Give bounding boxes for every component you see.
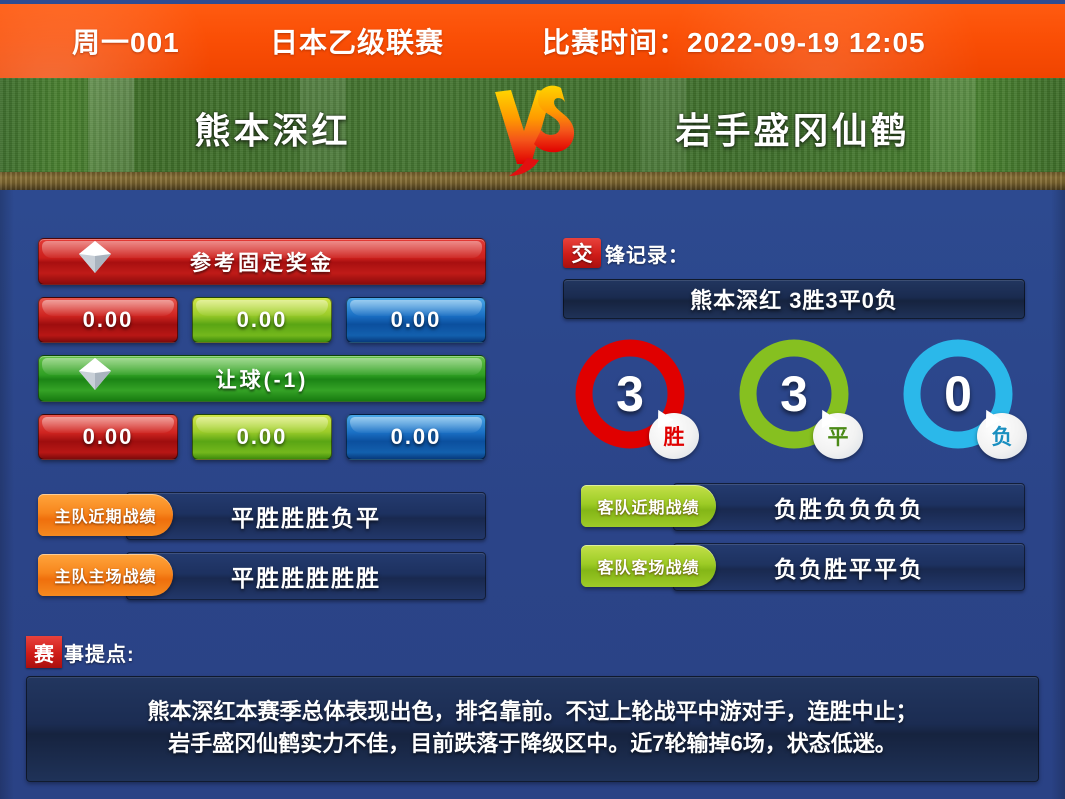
fixed-prize-banner: 参考固定奖金 xyxy=(38,238,486,285)
tips-header: 赛 事提点: xyxy=(26,636,1039,668)
fixed-odd-lose[interactable]: 0.00 xyxy=(346,297,486,343)
match-round: 周一001 xyxy=(72,21,222,61)
fixed-odd-win[interactable]: 0.00 xyxy=(38,297,178,343)
odds-panel: 参考固定奖金 0.00 0.00 0.00 xyxy=(38,238,486,612)
handicap-label: 让球(-1) xyxy=(216,364,309,394)
h2h-draw-badge: 平 xyxy=(813,413,863,459)
away-away-form-value: 负负胜平平负 xyxy=(774,550,924,584)
diamond-icon xyxy=(73,235,117,279)
handicap-odds-row: 0.00 0.00 0.00 xyxy=(38,414,486,460)
h2h-ring-win: 3 胜 xyxy=(571,335,689,453)
league-name: 日本乙级联赛 xyxy=(222,21,500,61)
fixed-prize-odds-row: 0.00 0.00 0.00 xyxy=(38,297,486,343)
tips-title: 事提点: xyxy=(64,638,135,667)
away-away-form-row: 负负胜平平负 客队客场战绩 xyxy=(563,543,1025,589)
home-recent-form-bar: 平胜胜胜负平 xyxy=(126,492,486,540)
home-home-form-value: 平胜胜胜胜胜 xyxy=(231,559,381,593)
match-tips-section: 赛 事提点: 熊本深红本赛季总体表现出色，排名靠前。不过上轮战平中游对手，连胜中… xyxy=(26,636,1039,782)
h2h-ring-draw: 3 平 xyxy=(735,335,853,453)
home-home-form-row: 平胜胜胜胜胜 主队主场战绩 xyxy=(38,552,486,598)
home-recent-form-row: 平胜胜胜负平 主队近期战绩 xyxy=(38,492,486,538)
fixed-odd-draw[interactable]: 0.00 xyxy=(192,297,332,343)
fixed-prize-label: 参考固定奖金 xyxy=(190,247,334,277)
home-home-form-label: 主队主场战绩 xyxy=(54,563,156,587)
home-home-form-tag: 主队主场战绩 xyxy=(38,554,173,596)
away-away-form-bar: 负负胜平平负 xyxy=(673,543,1025,591)
odd-value: 0.00 xyxy=(391,307,442,333)
match-time: 比赛时间：2022-09-19 12:05 xyxy=(500,21,926,61)
header-bar: 周一001 日本乙级联赛 比赛时间：2022-09-19 12:05 xyxy=(0,4,1065,78)
tips-line: 岩手盛冈仙鹤实力不佳，目前跌落于降级区中。近7轮输掉6场，状态低迷。 xyxy=(168,728,896,760)
away-recent-form-bar: 负胜负负负负 xyxy=(673,483,1025,531)
h2h-rings: 3 胜 3 平 0 xyxy=(563,335,1025,453)
away-recent-form-value: 负胜负负负负 xyxy=(774,490,924,524)
home-recent-form-tag: 主队近期战绩 xyxy=(38,494,173,536)
h2h-title: 锋记录： xyxy=(605,239,689,268)
h2h-lose-badge: 负 xyxy=(977,413,1027,459)
teams-band: 熊本深红 岩手盛冈仙鹤 xyxy=(0,78,1065,178)
diamond-icon xyxy=(73,352,117,396)
odd-value: 0.00 xyxy=(391,424,442,450)
handicap-odd-lose[interactable]: 0.00 xyxy=(346,414,486,460)
h2h-chip-text: 交 xyxy=(572,238,593,268)
h2h-chip-icon: 交 xyxy=(563,238,601,268)
away-recent-form-row: 负胜负负负负 客队近期战绩 xyxy=(563,483,1025,529)
home-team-name: 熊本深红 xyxy=(73,102,473,154)
home-home-form-bar: 平胜胜胜胜胜 xyxy=(126,552,486,600)
h2h-ring-lose: 0 负 xyxy=(899,335,1017,453)
home-recent-form-label: 主队近期战绩 xyxy=(54,503,156,527)
h2h-draw-badge-text: 平 xyxy=(828,421,849,451)
away-recent-form-label: 客队近期战绩 xyxy=(597,494,699,518)
tips-box: 熊本深红本赛季总体表现出色，排名靠前。不过上轮战平中游对手，连胜中止； 岩手盛冈… xyxy=(26,676,1039,782)
vs-flame-icon xyxy=(473,76,593,180)
head-to-head-panel: 交 锋记录： 熊本深红 3胜3平0负 3 胜 xyxy=(563,238,1025,603)
handicap-odd-draw[interactable]: 0.00 xyxy=(192,414,332,460)
odd-value: 0.00 xyxy=(83,307,134,333)
tips-line: 熊本深红本赛季总体表现出色，排名靠前。不过上轮战平中游对手，连胜中止； xyxy=(147,696,917,728)
handicap-odd-win[interactable]: 0.00 xyxy=(38,414,178,460)
away-away-form-label: 客队客场战绩 xyxy=(597,554,699,578)
away-recent-form-tag: 客队近期战绩 xyxy=(581,485,716,527)
h2h-summary-bar: 熊本深红 3胜3平0负 xyxy=(563,279,1025,319)
h2h-summary-text: 熊本深红 3胜3平0负 xyxy=(690,283,898,315)
away-team-name: 岩手盛冈仙鹤 xyxy=(593,102,993,154)
h2h-win-badge-text: 胜 xyxy=(664,421,685,451)
tips-chip-icon: 赛 xyxy=(26,636,62,668)
odd-value: 0.00 xyxy=(237,307,288,333)
h2h-win-badge: 胜 xyxy=(649,413,699,459)
odd-value: 0.00 xyxy=(237,424,288,450)
handicap-banner: 让球(-1) xyxy=(38,355,486,402)
odd-value: 0.00 xyxy=(83,424,134,450)
match-preview-card: 周一001 日本乙级联赛 比赛时间：2022-09-19 12:05 熊本深红 xyxy=(0,0,1065,799)
h2h-header: 交 锋记录： xyxy=(563,238,1025,268)
h2h-lose-badge-text: 负 xyxy=(992,421,1013,451)
tips-chip-text: 赛 xyxy=(34,638,54,667)
home-recent-form-value: 平胜胜胜负平 xyxy=(231,499,381,533)
away-away-form-tag: 客队客场战绩 xyxy=(581,545,716,587)
